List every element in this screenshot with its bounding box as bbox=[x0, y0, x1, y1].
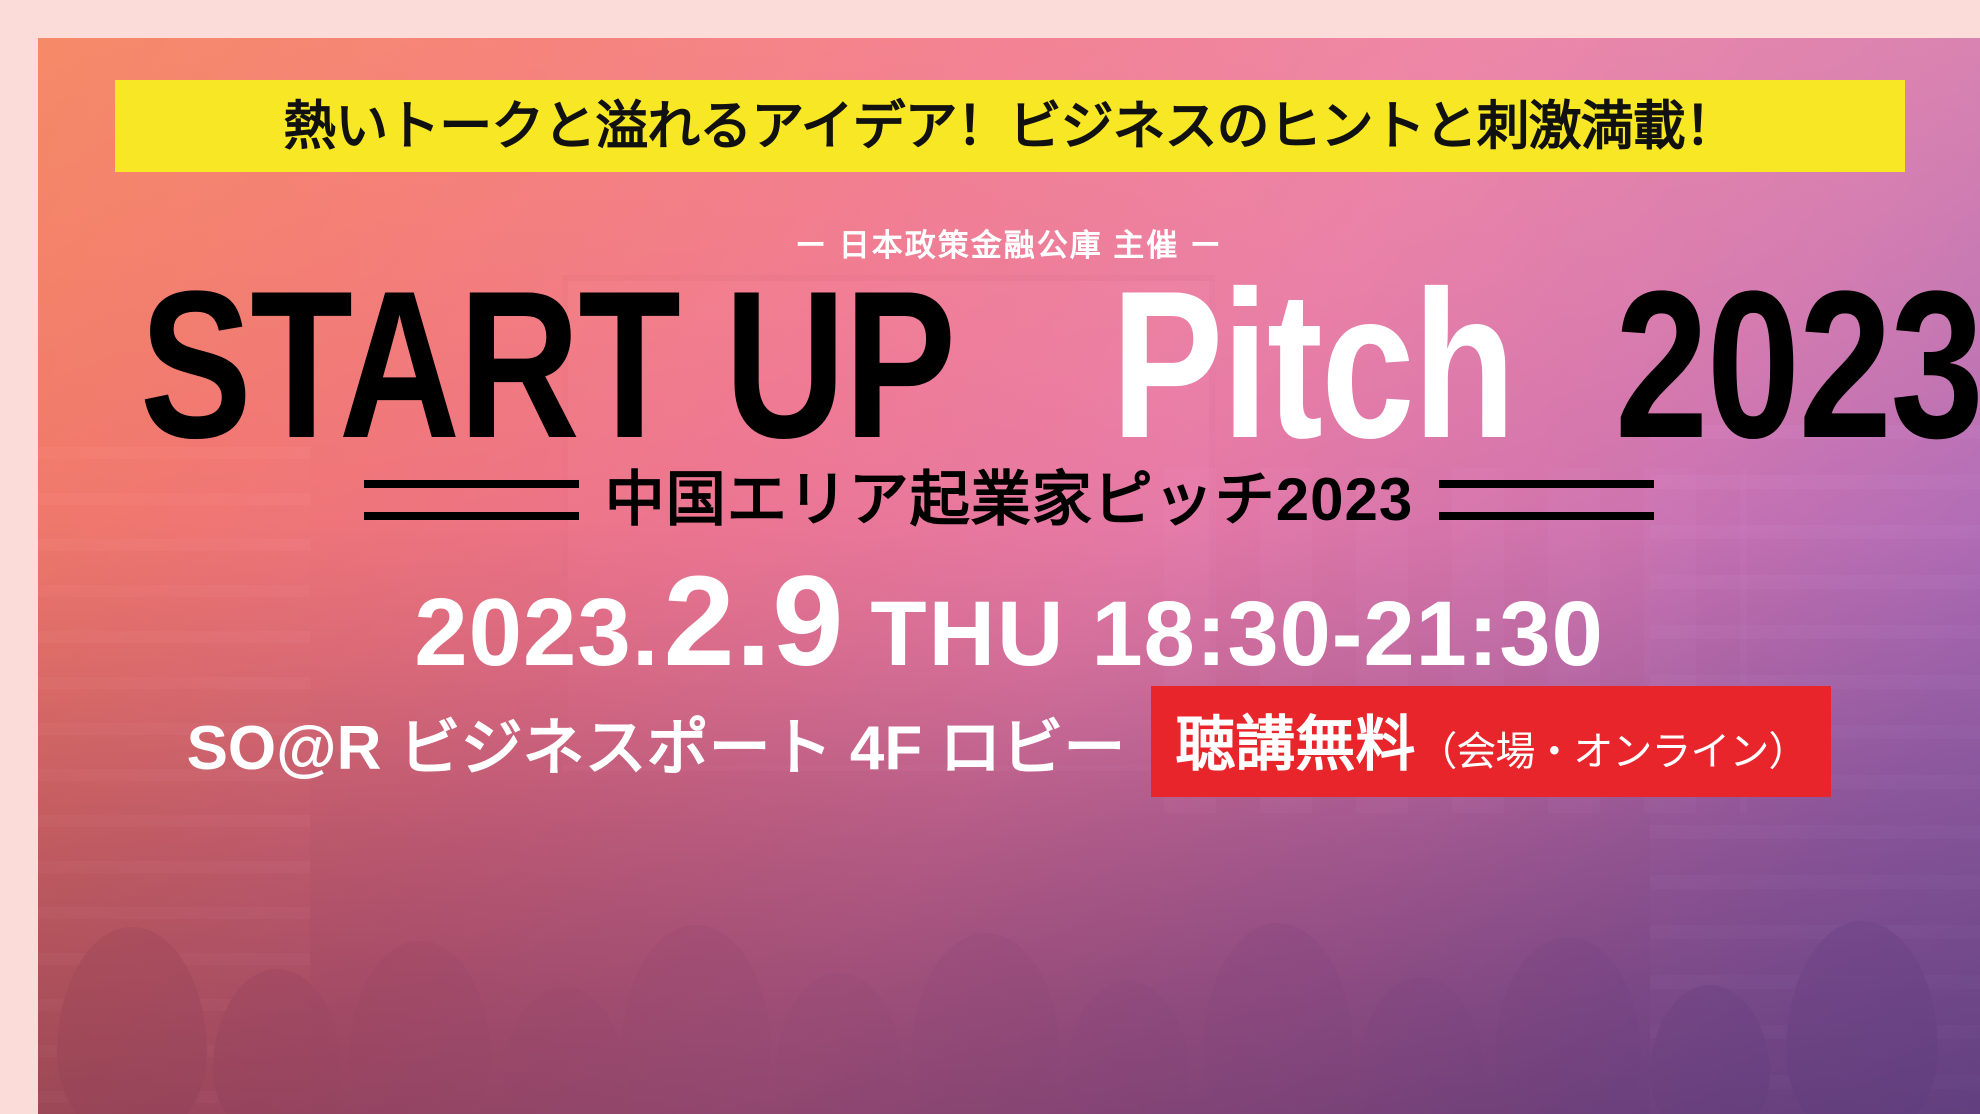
subtitle-row: 中国エリア起業家ピッチ2023 bbox=[38, 470, 1980, 530]
title-part-startup: START UP bbox=[140, 260, 955, 470]
subtitle-text: 中国エリア起業家ピッチ2023 bbox=[605, 470, 1413, 530]
double-rule-left-icon bbox=[364, 480, 579, 520]
date-day-of-week: THU bbox=[870, 582, 1065, 687]
catch-copy-banner: 熱いトークと溢れるアイデア！ビジネスのヒントと刺激満載！ bbox=[115, 80, 1905, 172]
poster-content: 熱いトークと溢れるアイデア！ビジネスのヒントと刺激満載！ ー 日本政策金融公庫 … bbox=[38, 38, 1980, 1114]
fee-badge-main-text: 聴講無料 bbox=[1175, 696, 1415, 783]
status-badge: 聴講無料 （会場・オンライン） bbox=[1151, 686, 1831, 797]
date-month-day: 2.9 bbox=[663, 548, 844, 695]
title-part-pitch: Pitch bbox=[1111, 260, 1514, 470]
venue-text: SO@R ビジネスポート 4F ロビー bbox=[187, 697, 1126, 787]
fee-badge-sub-text: （会場・オンライン） bbox=[1417, 719, 1807, 777]
catch-copy-text: 熱いトークと溢れるアイデア！ビジネスのヒントと刺激満載！ bbox=[283, 100, 1736, 153]
venue-row: SO@R ビジネスポート 4F ロビー 聴講無料 （会場・オンライン） bbox=[38, 686, 1980, 797]
event-time-range: 18:30-21:30 bbox=[1092, 582, 1604, 687]
date-year: 2023. bbox=[414, 578, 659, 688]
event-poster: 熱いトークと溢れるアイデア！ビジネスのヒントと刺激満載！ ー 日本政策金融公庫 … bbox=[0, 0, 1980, 1114]
event-date-row: 2023. 2.9 THU 18:30-21:30 bbox=[38, 548, 1980, 695]
page-title: START UP Pitch 2023 bbox=[38, 260, 1980, 470]
double-rule-right-icon bbox=[1439, 480, 1654, 520]
title-part-year: 2023 bbox=[1615, 260, 1980, 470]
